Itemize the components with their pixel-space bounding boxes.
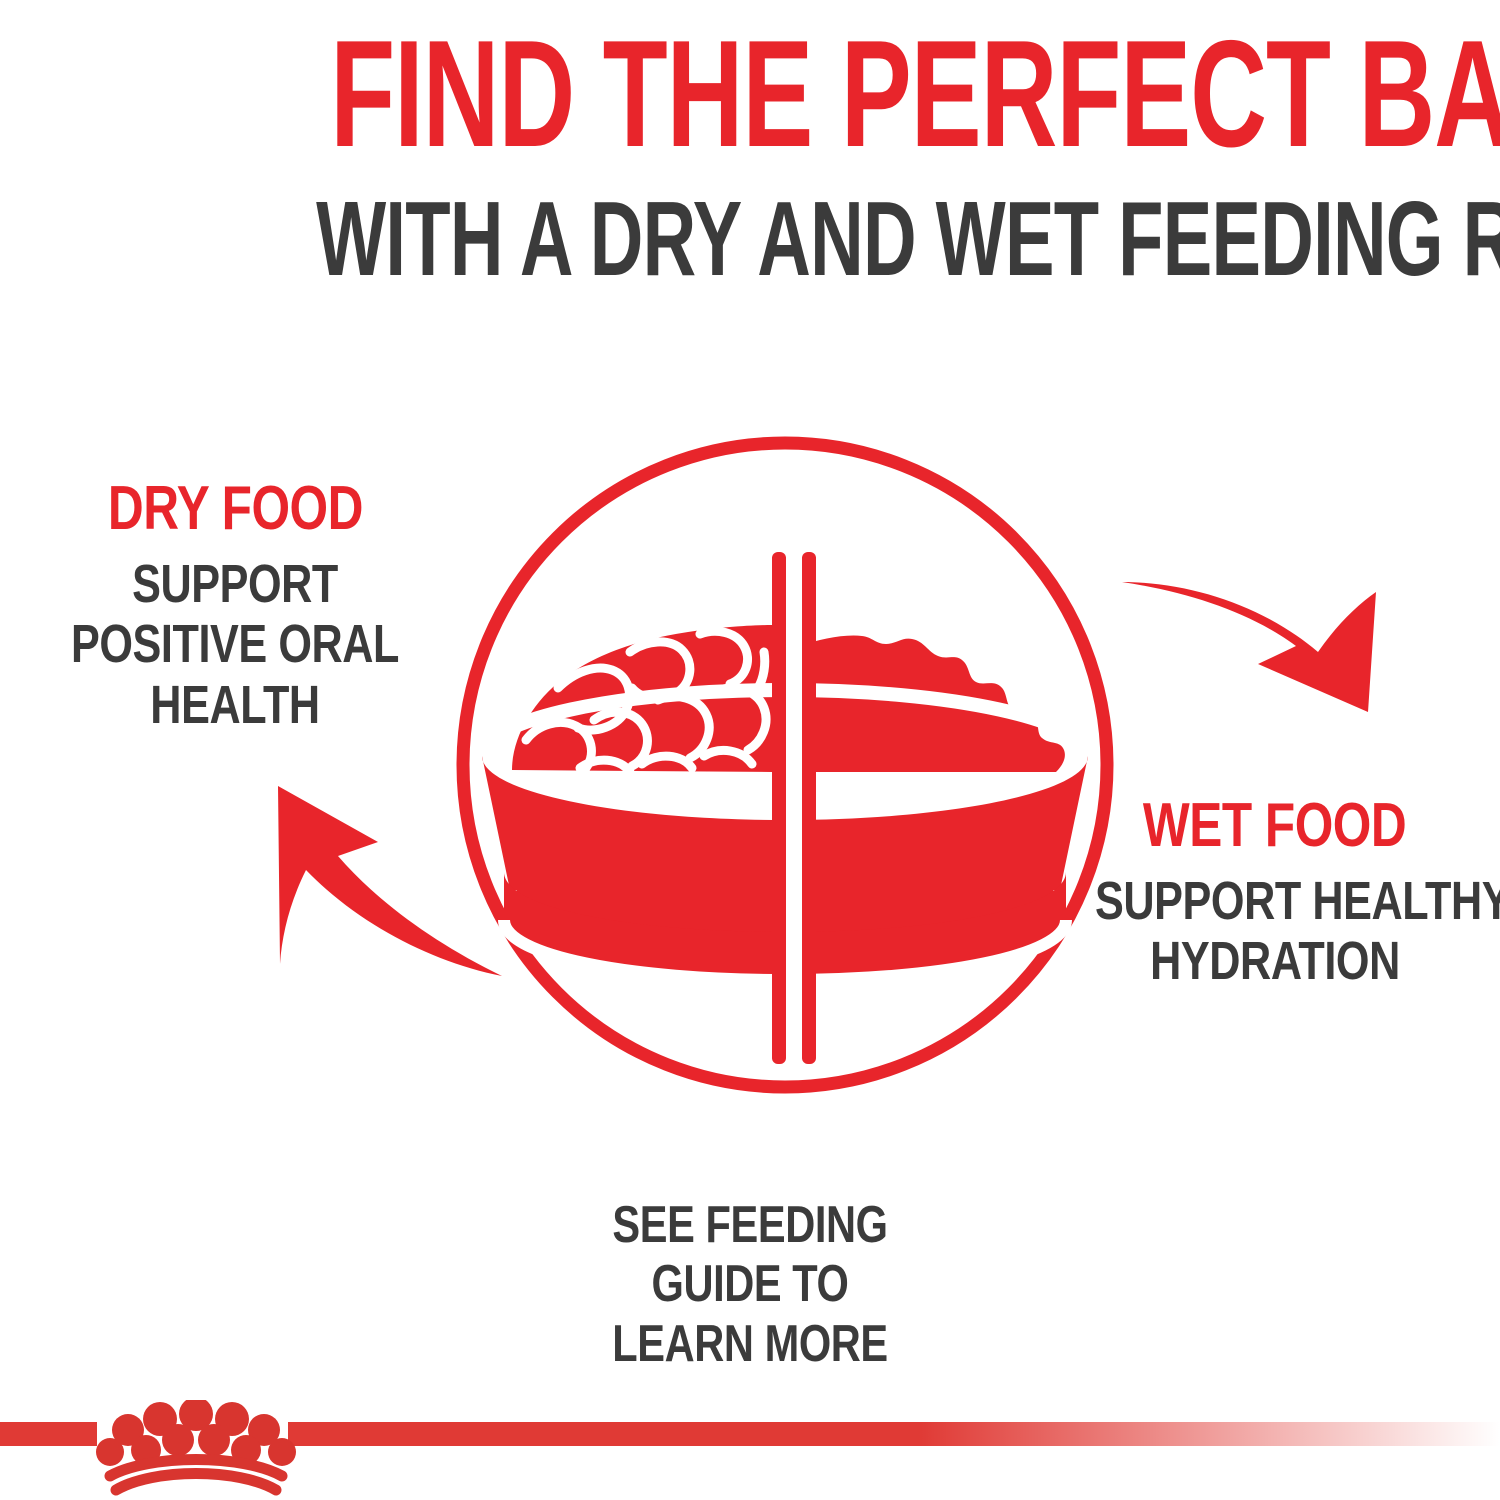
divider-line-left bbox=[772, 552, 786, 1064]
feeding-routine-illustration bbox=[160, 420, 1420, 1120]
arrow-down-right-icon bbox=[1122, 582, 1376, 712]
royal-canin-crown-icon bbox=[96, 1400, 296, 1490]
page-title-text: FIND THE PERFECT BALANCE bbox=[330, 18, 1500, 170]
divider-line-right bbox=[802, 552, 816, 1064]
page-subtitle: WITH A DRY AND WET FEEDING ROUTINE bbox=[0, 186, 1500, 292]
page-title: FIND THE PERFECT BALANCE bbox=[0, 18, 1500, 170]
page-subtitle-text: WITH A DRY AND WET FEEDING ROUTINE bbox=[316, 186, 1500, 292]
footer-rule-left bbox=[0, 1422, 97, 1446]
divider-gap bbox=[786, 552, 802, 1064]
footer-rule-right bbox=[288, 1422, 1500, 1446]
feeding-guide-caption: SEE FEEDING GUIDE TO LEARN MORE bbox=[530, 1196, 970, 1374]
footer-brand-bar bbox=[0, 1400, 1500, 1500]
pet-bowl bbox=[482, 552, 1088, 1064]
